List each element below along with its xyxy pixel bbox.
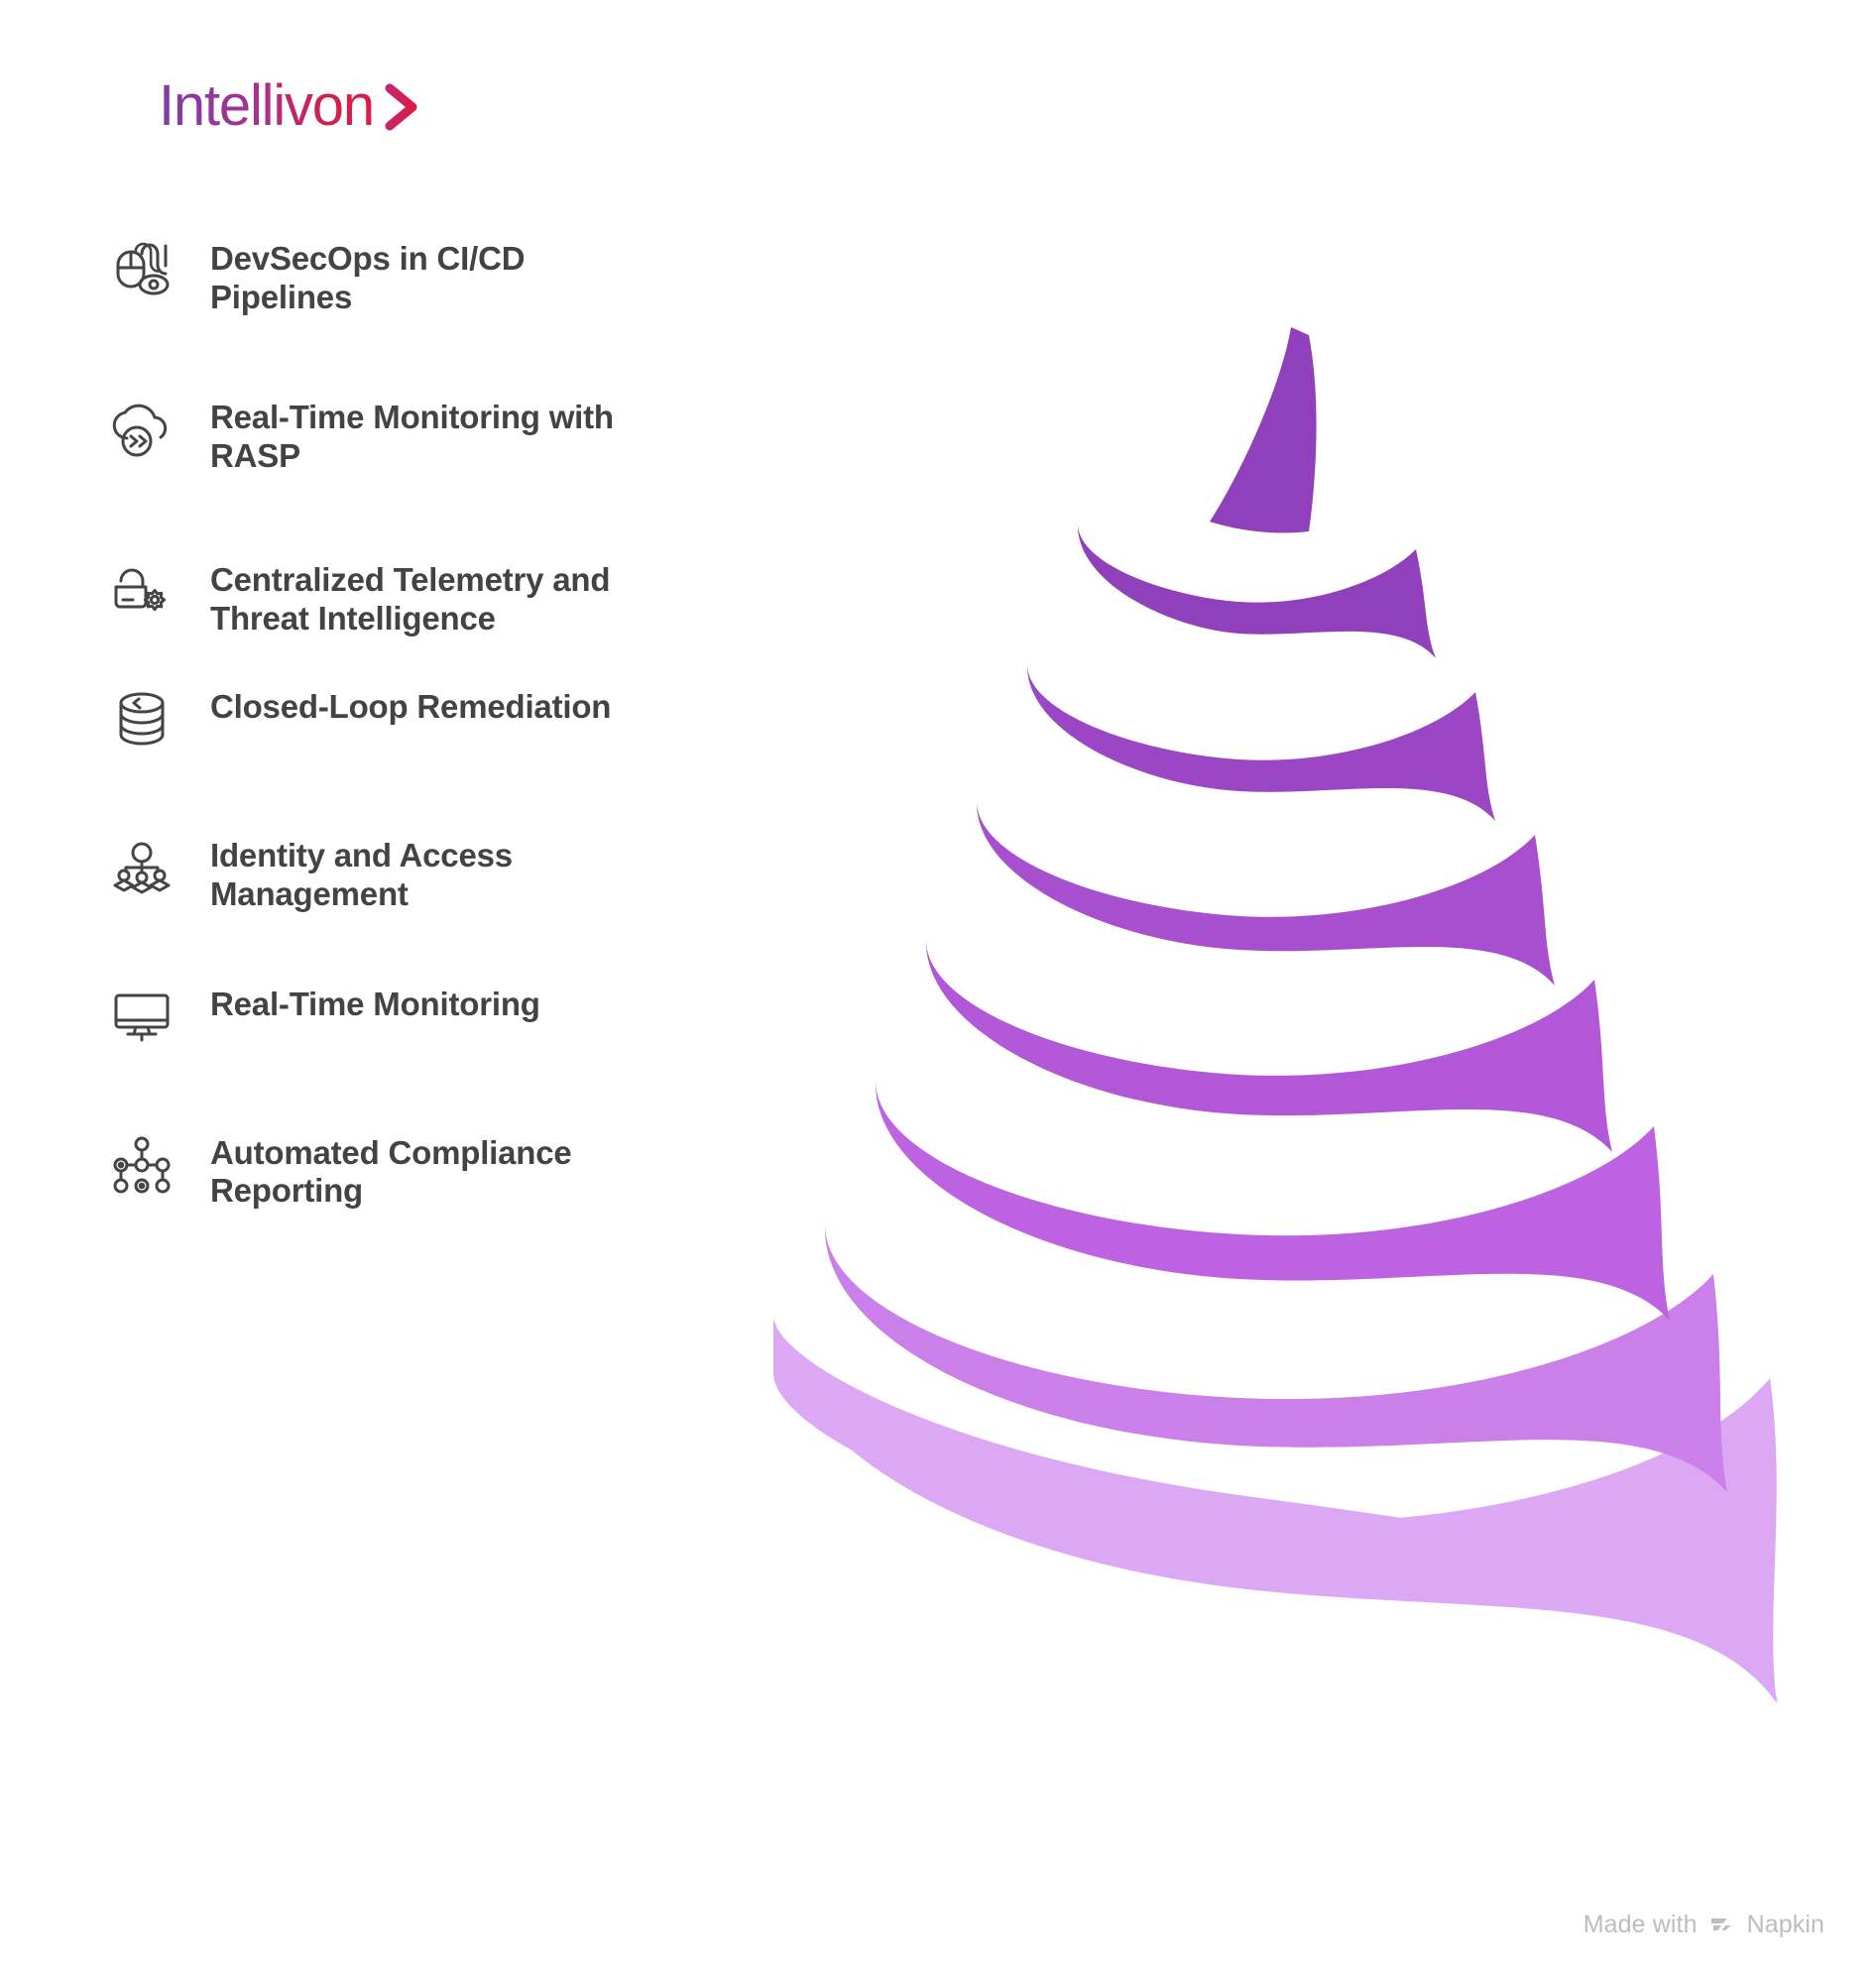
feature-item-closed-loop-remediation[interactable]: Closed-Loop Remediation: [109, 684, 744, 752]
feature-list: DevSecOps in CI/CD Pipelines Real-Time M…: [109, 236, 744, 1276]
feature-item-rasp-monitoring[interactable]: Real-Time Monitoring with RASP: [109, 395, 744, 476]
feature-item-real-time-monitoring[interactable]: Real-Time Monitoring: [109, 982, 744, 1049]
cloud-fast-forward-icon: [109, 397, 175, 462]
brand-logo[interactable]: Intellivon: [159, 77, 425, 135]
database-stack-icon: [109, 686, 175, 752]
brand-wordmark: Intellivon: [159, 77, 374, 135]
user-group-icon: [109, 835, 175, 900]
chevron-right-icon: [380, 80, 425, 132]
feature-label: Closed-Loop Remediation: [210, 684, 611, 727]
network-nodes-icon: [109, 1132, 175, 1198]
napkin-logo-icon: [1707, 1910, 1737, 1939]
mouse-eye-icon: [109, 238, 175, 303]
made-with-napkin-footer[interactable]: Made with Napkin: [1583, 1910, 1824, 1939]
monitor-icon: [109, 984, 175, 1049]
feature-item-compliance-reporting[interactable]: Automated Compliance Reporting: [109, 1130, 744, 1212]
napkin-product-label: Napkin: [1747, 1911, 1824, 1939]
feature-item-telemetry[interactable]: Centralized Telemetry and Threat Intelli…: [109, 557, 744, 639]
made-with-label: Made with: [1583, 1911, 1698, 1939]
feature-label: Real-Time Monitoring with RASP: [210, 395, 637, 476]
feature-label: DevSecOps in CI/CD Pipelines: [210, 236, 637, 317]
feature-item-identity-access[interactable]: Identity and Access Management: [109, 833, 744, 914]
feature-label: Automated Compliance Reporting: [210, 1130, 637, 1212]
lock-gear-icon: [109, 559, 175, 625]
feature-label: Centralized Telemetry and Threat Intelli…: [210, 557, 637, 639]
feature-label: Identity and Access Management: [210, 833, 637, 914]
spiral-cone-graphic: [773, 327, 1844, 1735]
feature-item-devsecops[interactable]: DevSecOps in CI/CD Pipelines: [109, 236, 744, 317]
feature-label: Real-Time Monitoring: [210, 982, 540, 1024]
